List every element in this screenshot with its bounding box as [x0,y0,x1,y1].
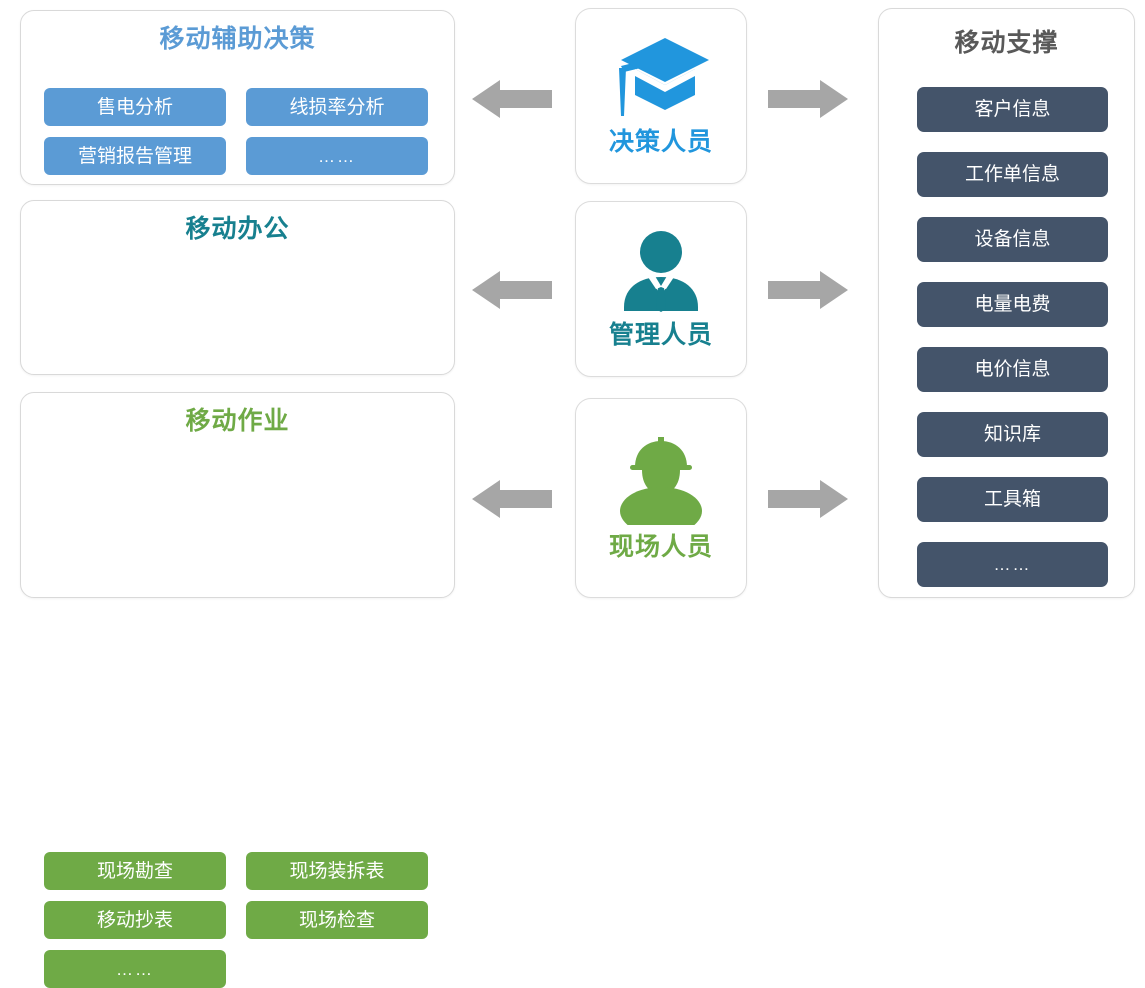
support-chip-item[interactable]: 电量电费 [917,282,1108,327]
panel-mobile-support: 移动支撑 客户信息 工作单信息 设备信息 电量电费 电价信息 知识库 工具箱 …… [878,8,1135,598]
chip-item-more[interactable]: …… [44,950,226,988]
role-card-decision-maker-label: 决策人员 [609,130,713,155]
support-chip-item[interactable]: 工作单信息 [917,152,1108,197]
panel-decision-support-title: 移动辅助决策 [21,27,454,52]
decision-support-item-grid: 售电分析 线损率分析 营销报告管理 …… [44,88,431,175]
support-chip-item[interactable]: 设备信息 [917,217,1108,262]
support-chip-item[interactable]: 知识库 [917,412,1108,457]
chip-item[interactable]: 线损率分析 [246,88,428,126]
role-card-decision-maker[interactable]: 决策人员 [575,8,747,184]
mobile-support-item-list: 客户信息 工作单信息 设备信息 电量电费 电价信息 知识库 工具箱 …… [917,87,1108,587]
mobile-field-work-item-grid: 现场勘查 现场装拆表 移动抄表 现场检查 …… [44,852,431,988]
chip-item[interactable]: 现场检查 [246,901,428,939]
role-card-manager-label: 管理人员 [609,323,713,348]
chip-item[interactable]: 售电分析 [44,88,226,126]
arrow-right-icon [768,267,848,313]
support-chip-item-more[interactable]: …… [917,542,1108,587]
panel-mobile-support-title: 移动支撑 [879,31,1134,56]
panel-mobile-field-work: 移动作业 现场勘查 现场装拆表 移动抄表 现场检查 …… [20,392,455,598]
arrow-left-icon [472,76,552,122]
support-chip-item[interactable]: 电价信息 [917,347,1108,392]
chip-item[interactable]: 现场勘查 [44,852,226,890]
arrow-right-icon [768,76,848,122]
chip-item-more[interactable]: …… [246,137,428,175]
support-chip-item[interactable]: 工具箱 [917,477,1108,522]
graduation-cap-icon [613,38,709,120]
panel-mobile-office: 移动办公 移动派工 移动审批 业务监控 …… [20,200,455,375]
panel-mobile-office-title: 移动办公 [21,217,454,242]
arrow-left-icon [472,267,552,313]
support-chip-item[interactable]: 客户信息 [917,87,1108,132]
panel-decision-support: 移动辅助决策 售电分析 线损率分析 营销报告管理 …… [20,10,455,185]
arrow-right-icon [768,476,848,522]
arrow-left-icon [472,476,552,522]
chip-item[interactable]: 现场装拆表 [246,852,428,890]
role-card-manager[interactable]: 管理人员 [575,201,747,377]
role-card-field-worker-label: 现场人员 [609,535,713,560]
chip-item[interactable]: 营销报告管理 [44,137,226,175]
chip-item[interactable]: 移动抄表 [44,901,226,939]
hard-hat-worker-icon [616,437,706,525]
role-card-field-worker[interactable]: 现场人员 [575,398,747,598]
business-person-icon [618,231,704,313]
panel-mobile-field-work-title: 移动作业 [21,409,454,434]
